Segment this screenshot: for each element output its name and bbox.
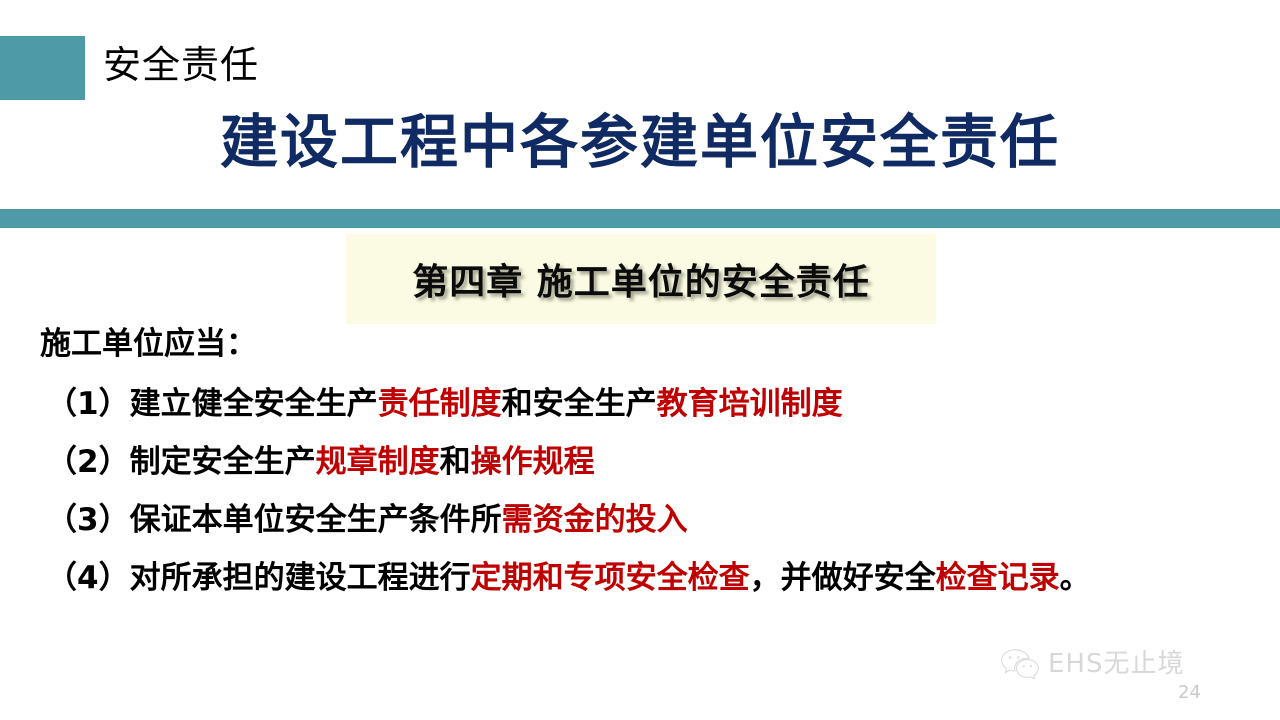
header-kicker: 安全责任 (103, 37, 259, 93)
highlighted-term: 责任制度 (378, 386, 502, 422)
page-title: 建设工程中各参建单位安全责任 (0, 104, 1280, 180)
responsibility-list-item: （2）制定安全生产规章制度和操作规程 (46, 433, 1246, 491)
body-text-segment: 和 (440, 444, 471, 480)
watermark-label: EHS无止境 (1048, 649, 1184, 679)
body-text-segment: ，并做好安全 (750, 560, 936, 596)
watermark: EHS无止境 (1000, 648, 1184, 680)
highlighted-term: 规章制度 (316, 444, 440, 480)
body-lead-text: 施工单位应当： (40, 322, 257, 366)
body-text-segment: （1）建立健全安全生产 (46, 386, 378, 422)
responsibility-list-item: （4）对所承担的建设工程进行定期和专项安全检查，并做好安全检查记录。 (46, 549, 1246, 607)
highlighted-term: 需资金的投入 (502, 502, 688, 538)
teal-horizontal-rule-icon (0, 209, 1280, 228)
body-text-segment: 。 (1060, 560, 1091, 596)
responsibility-list: （1）建立健全安全生产责任制度和安全生产教育培训制度（2）制定安全生产规章制度和… (46, 375, 1246, 607)
body-text-segment: （2）制定安全生产 (46, 444, 316, 480)
body-text-segment: （3）保证本单位安全生产条件所 (46, 502, 502, 538)
body-text-segment: 和安全生产 (502, 386, 657, 422)
page-number: 24 (1178, 682, 1201, 704)
chapter-banner-title: 第四章 施工单位的安全责任 (346, 234, 936, 324)
responsibility-list-item: （3）保证本单位安全生产条件所需资金的投入 (46, 491, 1246, 549)
highlighted-term: 教育培训制度 (657, 386, 843, 422)
slide: 安全责任 建设工程中各参建单位安全责任 第四章 施工单位的安全责任 施工单位应当… (0, 0, 1280, 720)
responsibility-list-item: （1）建立健全安全生产责任制度和安全生产教育培训制度 (46, 375, 1246, 433)
highlighted-term: 定期和专项安全检查 (471, 560, 750, 596)
teal-square-marker-icon (0, 36, 85, 100)
highlighted-term: 操作规程 (471, 444, 595, 480)
highlighted-term: 检查记录 (936, 560, 1060, 596)
wechat-icon (1000, 648, 1040, 680)
body-text-segment: （4）对所承担的建设工程进行 (46, 560, 471, 596)
